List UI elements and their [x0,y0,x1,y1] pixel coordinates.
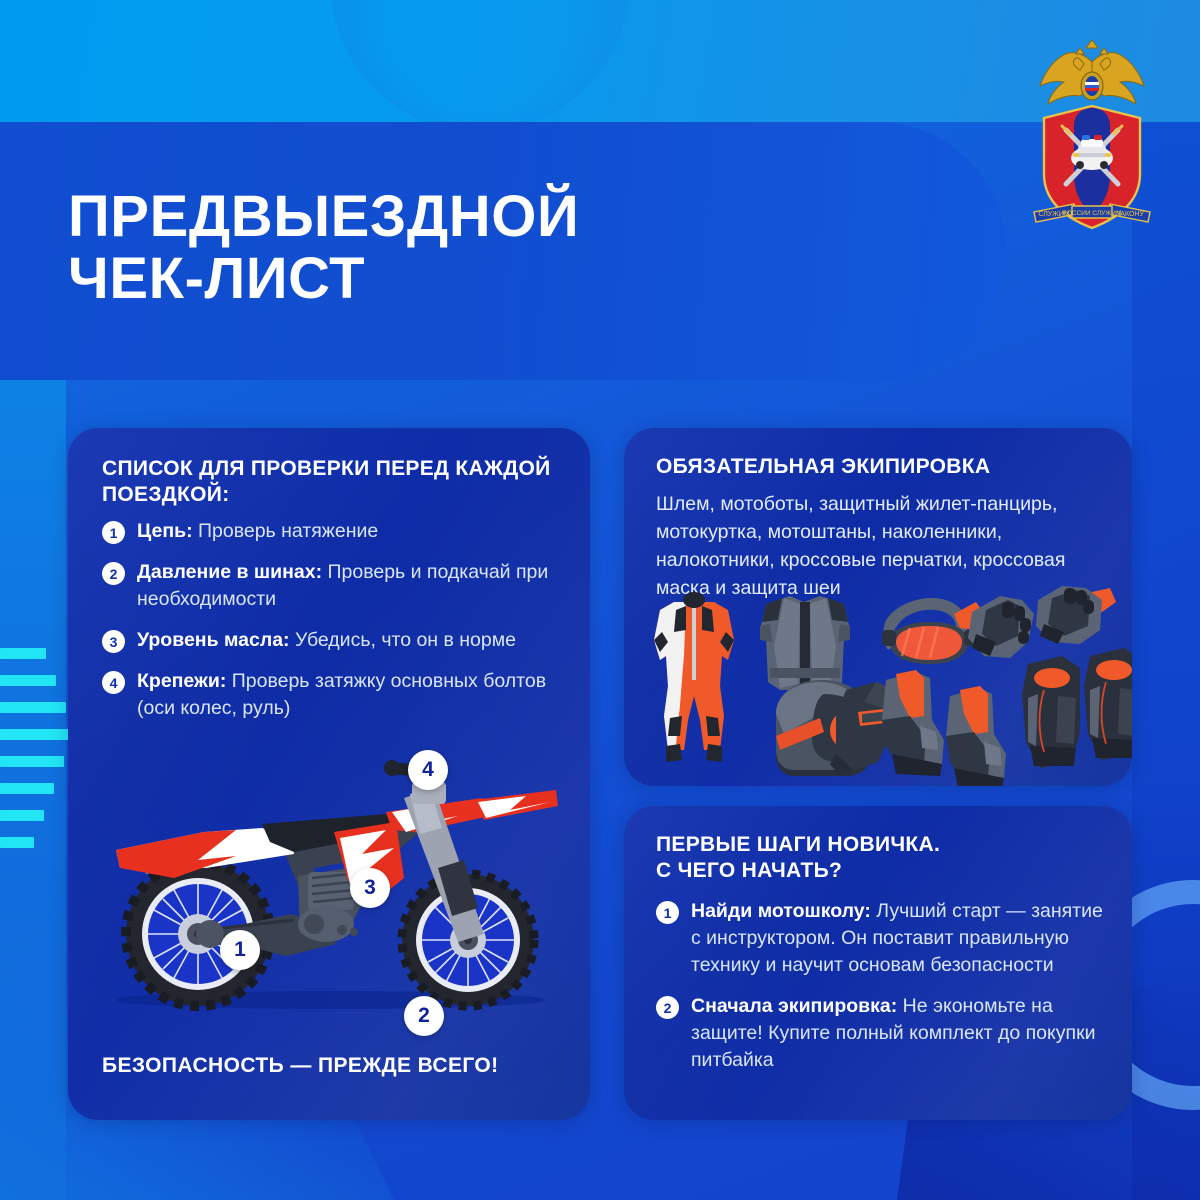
bike-marker-2[interactable]: 2 [404,996,444,1036]
steps-term: Найди мотошколу: [691,900,871,922]
checklist-item: 2Давление в шинах: Проверь и подкачай пр… [102,559,560,613]
checklist-heading-line2: ПОЕЗДКОЙ: [102,482,562,508]
racing-suit-icon [654,592,734,762]
checklist-badge: 1 [102,521,125,544]
knee-pads-icon [1022,648,1132,768]
gear-panel: ОБЯЗАТЕЛЬНАЯ ЭКИПИРОВКА Шлем, мотоботы, … [624,428,1132,786]
decorative-dash [0,810,44,821]
steps-heading-line1: ПЕРВЫЕ ШАГИ НОВИЧКА. [656,832,1104,858]
checklist-term: Крепежи: [137,670,226,692]
checklist-term: Давление в шинах: [137,561,322,583]
checklist-heading-line1: СПИСОК ДЛЯ ПРОВЕРКИ ПЕРЕД КАЖДОЙ [102,456,562,482]
page-title-line2: ЧЕК-ЛИСТ [68,248,768,310]
gloves-icon [954,586,1116,658]
decorative-dash [0,675,56,686]
dirt-bike-illustration [86,728,576,1028]
decorative-dash [0,837,34,848]
page-title-line1: ПРЕДВЫЕЗДНОЙ [68,186,768,248]
checklist-badge: 3 [102,630,125,653]
bike-marker-4[interactable]: 4 [408,750,448,790]
background-circle-decor [330,0,630,132]
bike-marker-3[interactable]: 3 [350,868,390,908]
checklist-term: Цепь: [137,520,193,542]
chest-protector-icon [760,596,850,690]
safety-tagline: БЕЗОПАСНОСТЬ — ПРЕЖДЕ ВСЕГО! [102,1054,499,1078]
checklist-panel: СПИСОК ДЛЯ ПРОВЕРКИ ПЕРЕД КАЖДОЙ ПОЕЗДКО… [68,428,590,1120]
steps-term: Сначала экипировка: [691,995,897,1017]
first-steps-panel: ПЕРВЫЕ ШАГИ НОВИЧКА. С ЧЕГО НАЧАТЬ? 1Най… [624,806,1132,1120]
checklist-term: Уровень масла: [137,629,290,651]
checklist-badge: 2 [102,562,125,585]
decorative-dash [0,729,72,740]
decorative-dash [0,783,54,794]
checklist-text: Цепь: Проверь натяжение [137,518,378,545]
svg-text:РОССИИ СЛУЖИМ: РОССИИ СЛУЖИМ [1063,210,1122,217]
decorative-dash [0,756,64,767]
checklist-text: Уровень масла: Убедись, что он в норме [137,627,516,654]
steps-heading-line2: С ЧЕГО НАЧАТЬ? [656,858,1104,884]
checklist-item: 1Цепь: Проверь натяжение [102,518,560,545]
background-top-band [0,0,1200,122]
page-title: ПРЕДВЫЕЗДНОЙ ЧЕК-ЛИСТ [68,186,768,310]
gibdd-emblem-icon: СЛУЖИМ РОССИИ СЛУЖИМ ЗАКОНУ [1022,34,1162,234]
decorative-dash [0,648,46,659]
checklist-item: 3Уровень масла: Убедись, что он в норме [102,627,560,654]
steps-text: Сначала экипировка: Не экономьте на защи… [691,993,1106,1074]
checklist-text: Давление в шинах: Проверь и подкачай при… [137,559,560,613]
steps-item: 2Сначала экипировка: Не экономьте на защ… [656,993,1106,1074]
goggles-icon [882,598,978,664]
steps-badge: 1 [656,901,679,924]
checklist-item: 4Крепежи: Проверь затяжку основных болто… [102,668,560,722]
steps-text: Найди мотошколу: Лучший старт — занятие … [691,898,1106,979]
checklist-list: 1Цепь: Проверь натяжение2Давление в шина… [102,518,560,736]
decorative-dash-column [0,648,64,864]
checklist-badge: 4 [102,671,125,694]
checklist-text: Крепежи: Проверь затяжку основных болтов… [137,668,560,722]
steps-item: 1Найди мотошколу: Лучший старт — занятие… [656,898,1106,979]
decorative-dash [0,702,66,713]
gear-icons-row [624,428,1132,786]
steps-badge: 2 [656,996,679,1019]
steps-list: 1Найди мотошколу: Лучший старт — занятие… [656,898,1106,1088]
bike-marker-1[interactable]: 1 [220,930,260,970]
boots-icon [882,670,1006,786]
svg-text:ЗАКОНУ: ЗАКОНУ [1116,211,1144,218]
